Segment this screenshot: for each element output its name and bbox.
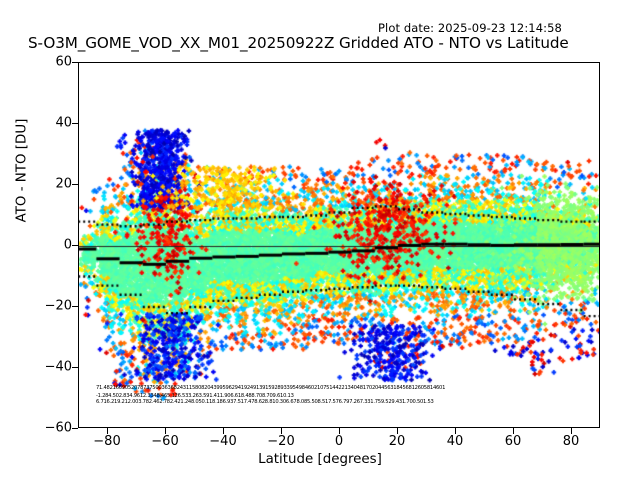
y-tick-label: −60 [12,421,72,436]
y-tick-label: −20 [12,299,72,314]
y-tick-mark [72,367,78,368]
x-tick-label: 40 [425,434,485,449]
y-tick-mark [72,428,78,429]
plot-date-label: Plot date: 2025-09-23 12:14:58 [378,21,562,35]
y-tick-label: 20 [12,177,72,192]
x-axis-label: Latitude [degrees] [0,452,640,467]
x-tick-label: −20 [251,434,311,449]
plot-axes [78,62,600,428]
x-tick-label: −40 [193,434,253,449]
x-tick-mark [397,428,398,434]
y-tick-label: 40 [12,116,72,131]
y-tick-mark [72,62,78,63]
x-tick-label: 0 [309,434,369,449]
x-tick-mark [165,428,166,434]
page-title: S-O3M_GOME_VOD_XX_M01_20250922Z Gridded … [28,34,569,52]
statistics-row-1: 71.4821609052078737500363682431158082043… [96,385,596,391]
x-tick-mark [281,428,282,434]
x-tick-mark [339,428,340,434]
x-tick-label: 20 [367,434,427,449]
x-tick-label: −80 [77,434,137,449]
plot-root: Plot date: 2025-09-23 12:14:58 S-O3M_GOM… [0,0,640,480]
y-tick-label: 60 [12,55,72,70]
y-tick-label: 0 [12,238,72,253]
statistics-row-3: 6.716.219.212.003.782.462.782.421.248.05… [96,399,596,405]
y-tick-mark [72,245,78,246]
y-tick-label: −40 [12,360,72,375]
x-tick-mark [107,428,108,434]
x-tick-label: −60 [135,434,195,449]
x-tick-mark [223,428,224,434]
y-tick-mark [72,184,78,185]
x-tick-mark [513,428,514,434]
x-tick-mark [455,428,456,434]
y-tick-mark [72,306,78,307]
scatter-canvas [79,63,600,428]
x-tick-label: 60 [483,434,543,449]
x-tick-label: 80 [541,434,601,449]
y-tick-mark [72,123,78,124]
x-tick-mark [571,428,572,434]
